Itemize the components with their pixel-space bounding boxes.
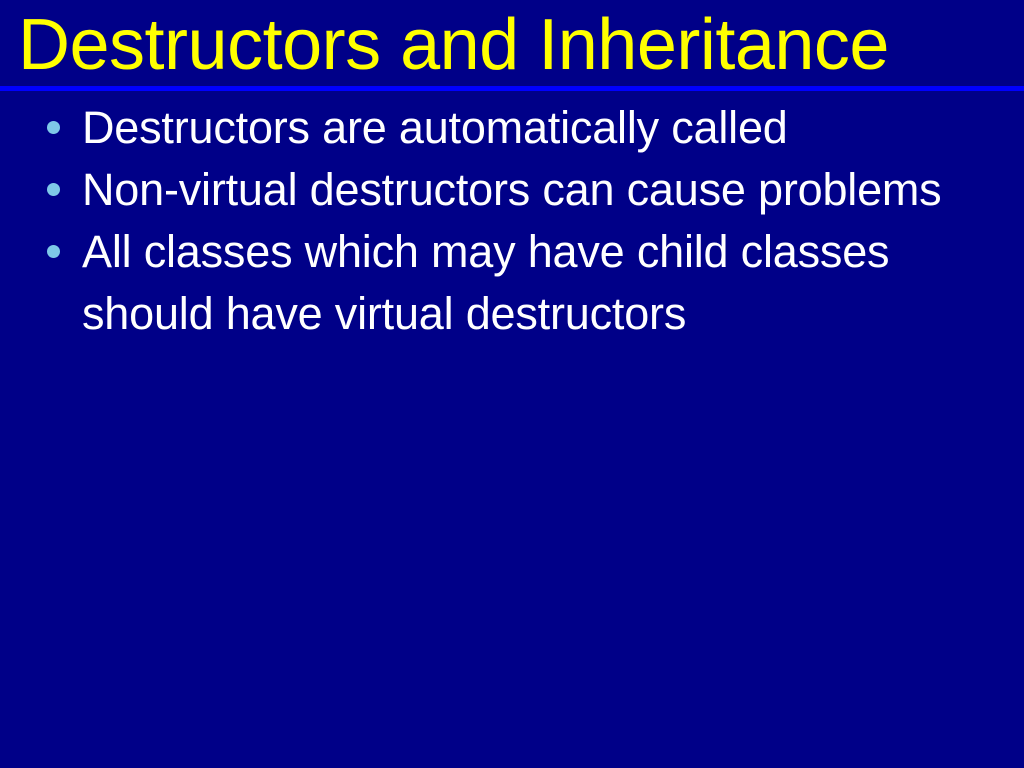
bullet-list: Destructors are automatically called Non… <box>0 97 1024 345</box>
list-item: All classes which may have child classes… <box>0 221 1024 345</box>
bullet-dot-icon <box>47 183 60 196</box>
title-divider <box>0 86 1024 91</box>
bullet-dot-icon <box>47 245 60 258</box>
list-item: Destructors are automatically called <box>0 97 1024 159</box>
list-item-label: All classes which may have child classes… <box>82 221 1004 345</box>
bullet-dot-icon <box>47 121 60 134</box>
page-title: Destructors and Inheritance <box>18 6 1008 84</box>
list-item: Non-virtual destructors can cause proble… <box>0 159 1024 221</box>
list-item-label: Destructors are automatically called <box>82 97 1004 159</box>
list-item-label: Non-virtual destructors can cause proble… <box>82 159 1004 221</box>
presentation-slide: Destructors and Inheritance Destructors … <box>0 0 1024 768</box>
